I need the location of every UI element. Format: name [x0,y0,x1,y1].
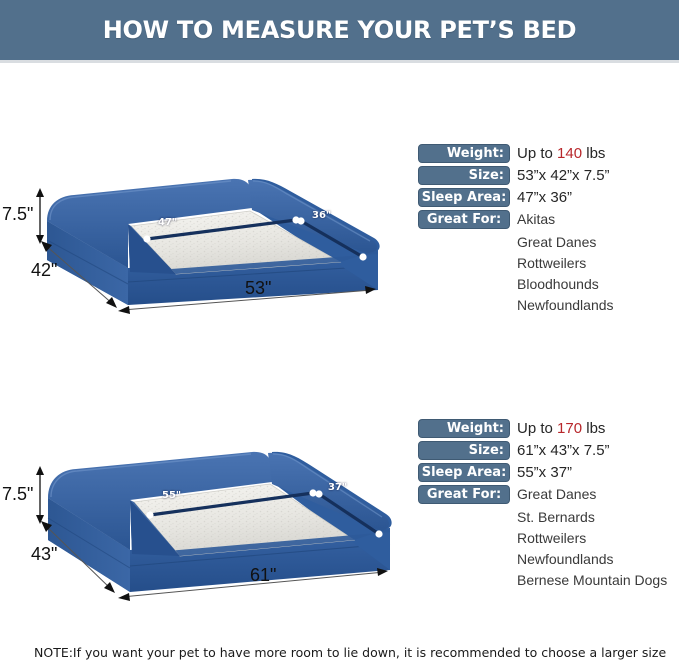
weight-value: Up to 170 lbs [517,419,605,438]
footer-note: NOTE:If you want your pet to have more r… [34,645,666,660]
weight-prefix: Up to [517,145,557,162]
spec-row-great-for: Great For: Great Danes [418,485,679,504]
page-title: HOW TO MEASURE YOUR PET’S BED [103,16,577,44]
spec-row-sleep-area: Sleep Area: 47”x 36” [418,188,679,207]
great-for-pill-label: Great For: [418,210,510,229]
height-label: 7.5" [2,484,33,505]
breed-item: Bernese Mountain Dogs [517,570,679,591]
weight-suffix: lbs [582,420,605,437]
size-value: 61”x 43”x 7.5” [517,441,610,460]
bed-diagram-xlarge: 55" 37" 7.5" 43" 61" [0,420,410,610]
inner-width-label: 36" [312,210,331,221]
spec-row-size: Size: 61”x 43”x 7.5” [418,441,679,460]
depth-label: 43" [31,544,57,565]
breed-item: Newfoundlands [517,295,679,316]
spec-table-large: Weight: Up to 140 lbs Size: 53”x 42”x 7.… [418,144,679,316]
spec-table-xlarge: Weight: Up to 170 lbs Size: 61”x 43”x 7.… [418,419,679,591]
breed-item: Newfoundlands [517,549,679,570]
header-banner: HOW TO MEASURE YOUR PET’S BED [0,0,679,63]
spec-row-size: Size: 53”x 42”x 7.5” [418,166,679,185]
width-label: 53" [245,278,271,299]
spec-row-great-for: Great For: Akitas [418,210,679,229]
sleep-area-value: 55”x 37” [517,463,572,482]
breed-first: Great Danes [517,485,596,504]
weight-number: 140 [557,145,582,162]
great-for-pill-label: Great For: [418,485,510,504]
breed-list: St. Bernards Rottweilers Newfoundlands B… [517,507,679,591]
infographic-page: HOW TO MEASURE YOUR PET’S BED [0,0,679,668]
weight-number: 170 [557,420,582,437]
depth-label: 42" [31,260,57,281]
breed-item: Rottweilers [517,253,679,274]
weight-suffix: lbs [582,145,605,162]
sleep-area-pill-label: Sleep Area: [418,463,510,482]
inner-length-label: 47" [158,217,177,228]
breed-item: St. Bernards [517,507,679,528]
breed-list: Great Danes Rottweilers Bloodhounds Newf… [517,232,679,316]
sleep-area-value: 47”x 36” [517,188,572,207]
breed-first: Akitas [517,210,555,229]
width-label: 61" [250,565,276,586]
height-label: 7.5" [2,204,33,225]
spec-row-weight: Weight: Up to 170 lbs [418,419,679,438]
size-value: 53”x 42”x 7.5” [517,166,610,185]
weight-pill-label: Weight: [418,419,510,438]
inner-length-label: 55" [162,490,181,501]
weight-prefix: Up to [517,420,557,437]
breed-item: Great Danes [517,232,679,253]
bed-diagram-large: 47" 36" 7.5" 42" 53" [0,150,410,320]
size-pill-label: Size: [418,166,510,185]
breed-item: Bloodhounds [517,274,679,295]
size-pill-label: Size: [418,441,510,460]
inner-width-label: 37" [328,482,347,493]
weight-value: Up to 140 lbs [517,144,605,163]
spec-row-weight: Weight: Up to 140 lbs [418,144,679,163]
breed-item: Rottweilers [517,528,679,549]
bed-illustration-svg [0,150,410,320]
spec-row-sleep-area: Sleep Area: 55”x 37” [418,463,679,482]
bed-illustration-svg [0,420,410,610]
sleep-area-pill-label: Sleep Area: [418,188,510,207]
weight-pill-label: Weight: [418,144,510,163]
